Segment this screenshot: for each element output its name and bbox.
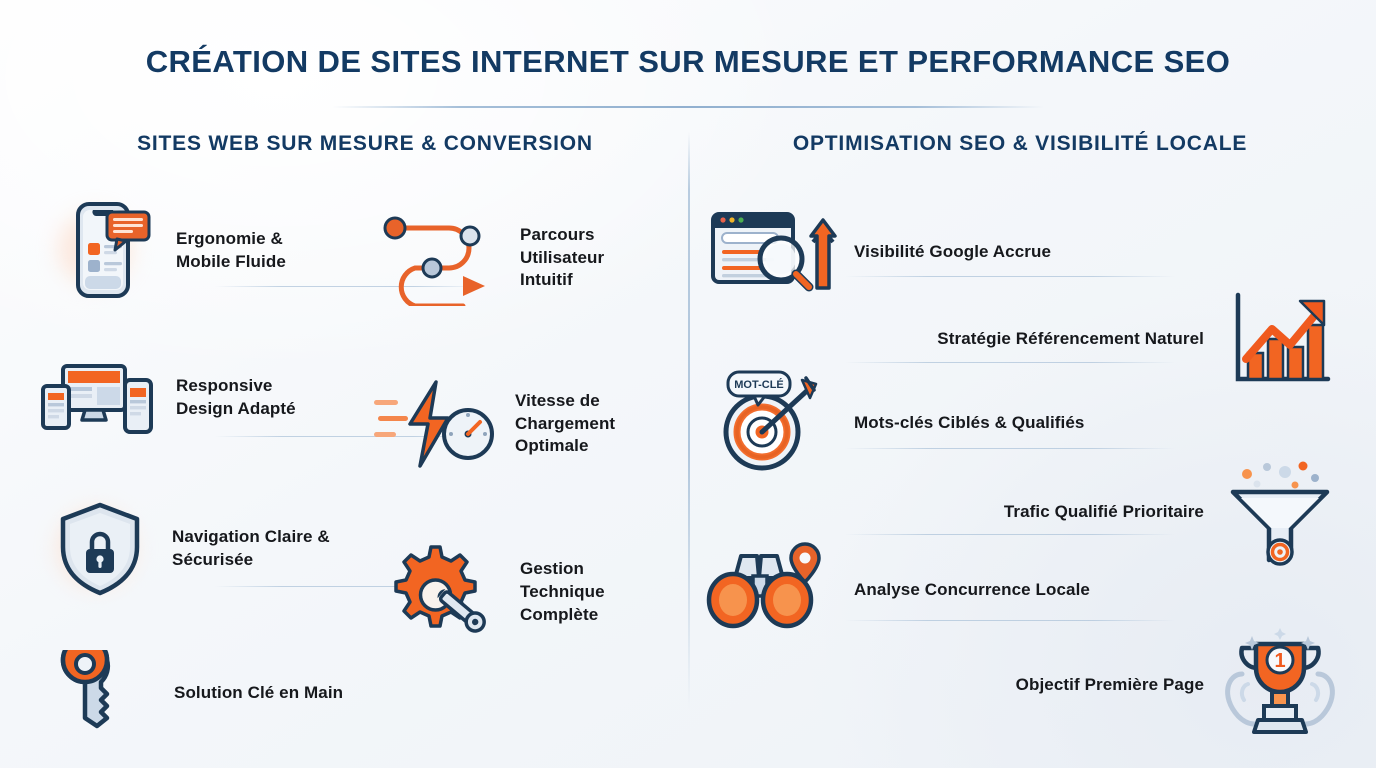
left-column: SITES WEB SUR MESURE & CONVERSION (40, 132, 680, 732)
list-item-label: Objectif Première Page (1016, 674, 1204, 697)
right-section-heading: OPTIMISATION SEO & VISIBILITÉ LOCALE (700, 132, 1340, 156)
binoculars-location-icon (700, 540, 840, 640)
mobile-chat-icon (40, 196, 160, 306)
user-journey-path-icon (374, 208, 504, 308)
list-item-label: Trafic Qualifié Prioritaire (1004, 501, 1204, 524)
trophy-first-place-icon: 1 (1220, 626, 1340, 744)
list-item-objectif[interactable]: Objectif Première Page 1 (700, 626, 1340, 744)
key-icon (40, 648, 160, 738)
title-divider (332, 106, 1044, 108)
list-item-solution[interactable]: Solution Clé en Main (40, 648, 680, 738)
infographic-poster: CRÉATION DE SITES INTERNET SUR MESURE ET… (0, 0, 1376, 768)
left-items-list: Ergonomie & Mobile Fluide Parcours Utili… (40, 178, 680, 718)
list-item-label: Solution Clé en Main (174, 682, 343, 705)
keyword-tag-text: MOT-CLÉ (734, 378, 784, 391)
browser-search-arrow-icon (700, 200, 840, 304)
list-item-label: Vitesse de Chargement Optimale (515, 390, 680, 459)
target-dart-keyword-icon: MOT-CLÉ (700, 368, 840, 478)
list-item-label: Parcours Utilisateur Intuitif (520, 224, 680, 293)
list-item-label: Gestion Technique Complète (520, 558, 680, 627)
right-column: OPTIMISATION SEO & VISIBILITÉ LOCALE (700, 132, 1340, 732)
list-item-label: Analyse Concurrence Locale (854, 579, 1090, 602)
trophy-rank-text: 1 (1274, 650, 1285, 672)
gear-wrench-icon (376, 540, 506, 645)
right-items-list: Visibilité Google Accrue Stratégie Référ… (700, 178, 1340, 718)
left-section-heading: SITES WEB SUR MESURE & CONVERSION (40, 132, 680, 156)
list-item-label: Visibilité Google Accrue (854, 241, 1051, 264)
list-item-label: Stratégie Référencement Naturel (937, 328, 1204, 351)
title-block: CRÉATION DE SITES INTERNET SUR MESURE ET… (0, 44, 1376, 108)
speed-bolt-gauge-icon (371, 374, 501, 474)
list-item-label: Mots-clés Ciblés & Qualifiés (854, 412, 1084, 435)
shield-lock-icon (40, 496, 160, 601)
page-title: CRÉATION DE SITES INTERNET SUR MESURE ET… (0, 44, 1376, 80)
funnel-traffic-icon (1220, 456, 1340, 568)
responsive-devices-icon (40, 348, 160, 448)
growth-chart-arrow-icon (1220, 284, 1340, 394)
column-divider (688, 132, 690, 710)
